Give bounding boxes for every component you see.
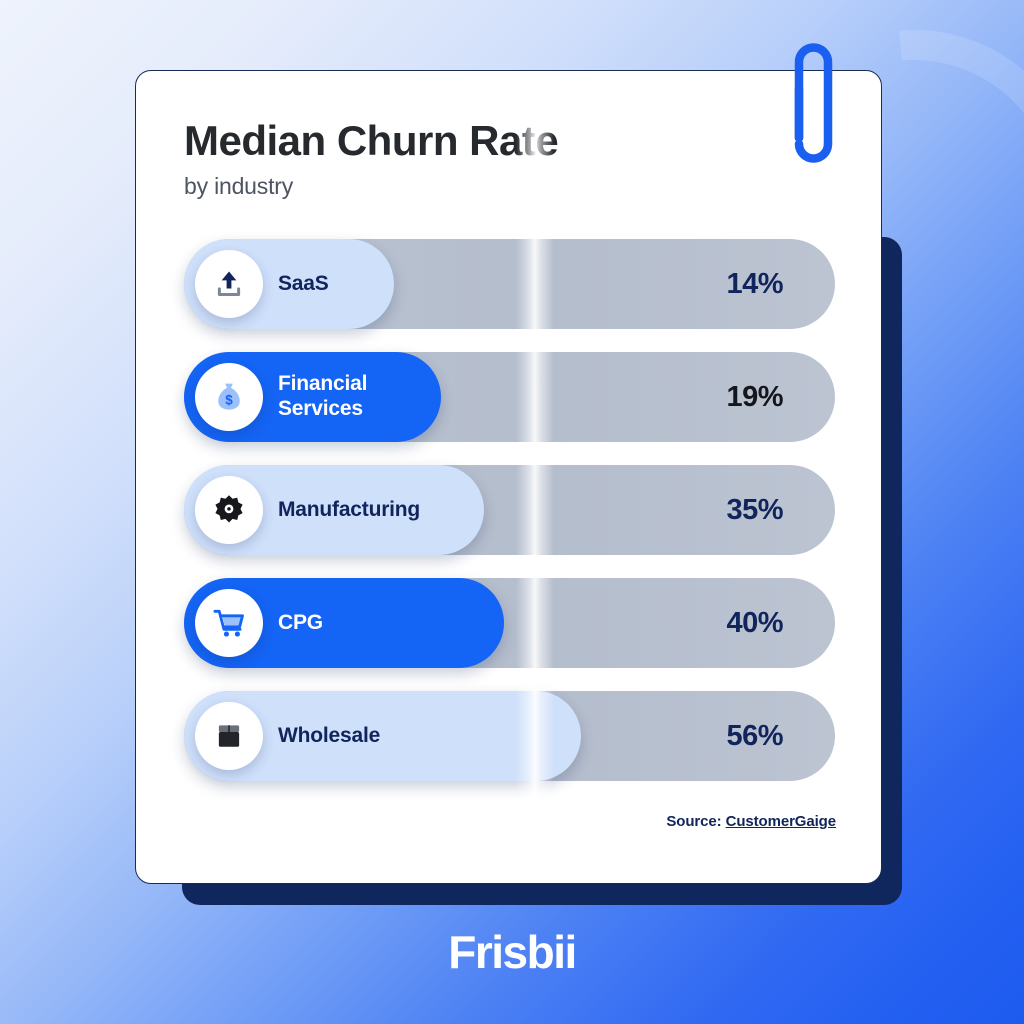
bar-row[interactable]: Wholesale 56% xyxy=(184,691,835,781)
bar-chart: SaaS 14% $ Financial Services 19% xyxy=(184,239,835,804)
shopping-cart-icon xyxy=(195,589,263,657)
package-box-icon xyxy=(195,702,263,770)
bar-value: 19% xyxy=(726,352,783,442)
infographic-canvas: Median Churn Rate by industry SaaS 14% xyxy=(0,0,1024,1024)
source-link[interactable]: CustomerGaige xyxy=(726,813,836,830)
paperclip-icon xyxy=(776,28,846,178)
bar-row[interactable]: CPG 40% xyxy=(184,578,835,668)
bar-row[interactable]: SaaS 14% xyxy=(184,239,835,329)
bar-value: 56% xyxy=(726,691,783,781)
bar-label: CPG xyxy=(278,578,323,668)
source-prefix: Source: xyxy=(666,813,725,830)
card-header: Median Churn Rate by industry xyxy=(136,71,881,200)
upload-icon xyxy=(195,250,263,318)
bar-value: 35% xyxy=(726,465,783,555)
bar-label: Manufacturing xyxy=(278,465,420,555)
gear-icon xyxy=(195,476,263,544)
brand-logo: Frisbii xyxy=(0,925,1024,979)
svg-text:$: $ xyxy=(225,393,233,408)
bar-value: 40% xyxy=(726,578,783,668)
bar-row[interactable]: Manufacturing 35% xyxy=(184,465,835,555)
bar-label: SaaS xyxy=(278,239,329,329)
bar-label: Financial Services xyxy=(278,352,367,442)
bar-row[interactable]: $ Financial Services 19% xyxy=(184,352,835,442)
source-attribution: Source: CustomerGaige xyxy=(666,813,836,830)
bar-label: Wholesale xyxy=(278,691,380,781)
bar-value: 14% xyxy=(726,239,783,329)
chart-card: Median Churn Rate by industry SaaS 14% xyxy=(135,70,882,884)
money-bag-icon: $ xyxy=(195,363,263,431)
